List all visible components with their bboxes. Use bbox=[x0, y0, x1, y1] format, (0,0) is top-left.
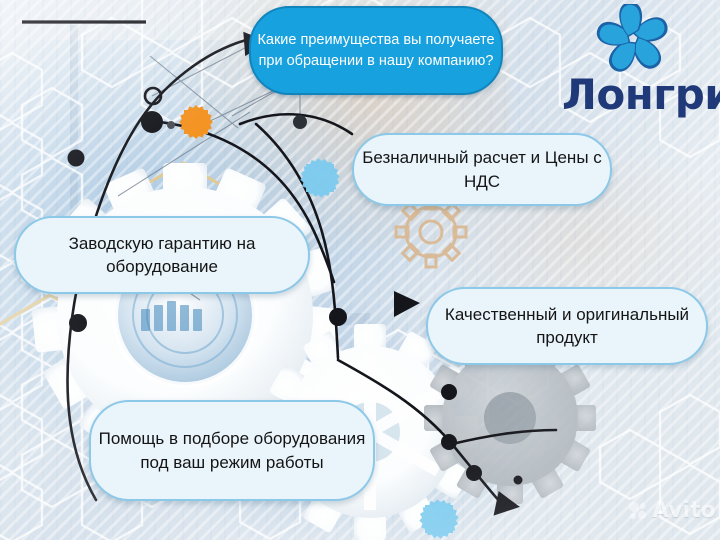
logo-wordmark: Лонгри bbox=[562, 70, 720, 119]
avito-dots-icon bbox=[628, 501, 648, 521]
company-logo: Лонгри bbox=[566, 4, 720, 116]
bubble-quality-product-text: Качественный и оригинальный продукт bbox=[428, 303, 706, 349]
bubble-cashless-vat-text: Безналичный расчет и Цены с НДС bbox=[354, 146, 610, 192]
pinwheel-flower-icon bbox=[594, 4, 672, 76]
poster-canvas: Какие преимущества вы получаете при обра… bbox=[0, 0, 720, 540]
avito-watermark: Avito bbox=[628, 500, 716, 522]
bubble-cashless-vat: Безналичный расчет и Цены с НДС bbox=[352, 133, 612, 206]
bubble-question-text: Какие преимущества вы получаете при обра… bbox=[251, 30, 501, 71]
bubble-equipment-selection: Помощь в подборе оборудования под ваш ре… bbox=[89, 400, 375, 501]
bubble-factory-warranty-text: Заводскую гарантию на оборудование bbox=[16, 232, 308, 278]
bubble-factory-warranty: Заводскую гарантию на оборудование bbox=[14, 216, 310, 294]
bubble-quality-product: Качественный и оригинальный продукт bbox=[426, 287, 708, 365]
avito-wordmark: Avito bbox=[652, 500, 716, 522]
bubble-question: Какие преимущества вы получаете при обра… bbox=[249, 6, 503, 95]
bubble-equipment-selection-text: Помощь в подборе оборудования под ваш ре… bbox=[91, 427, 373, 473]
